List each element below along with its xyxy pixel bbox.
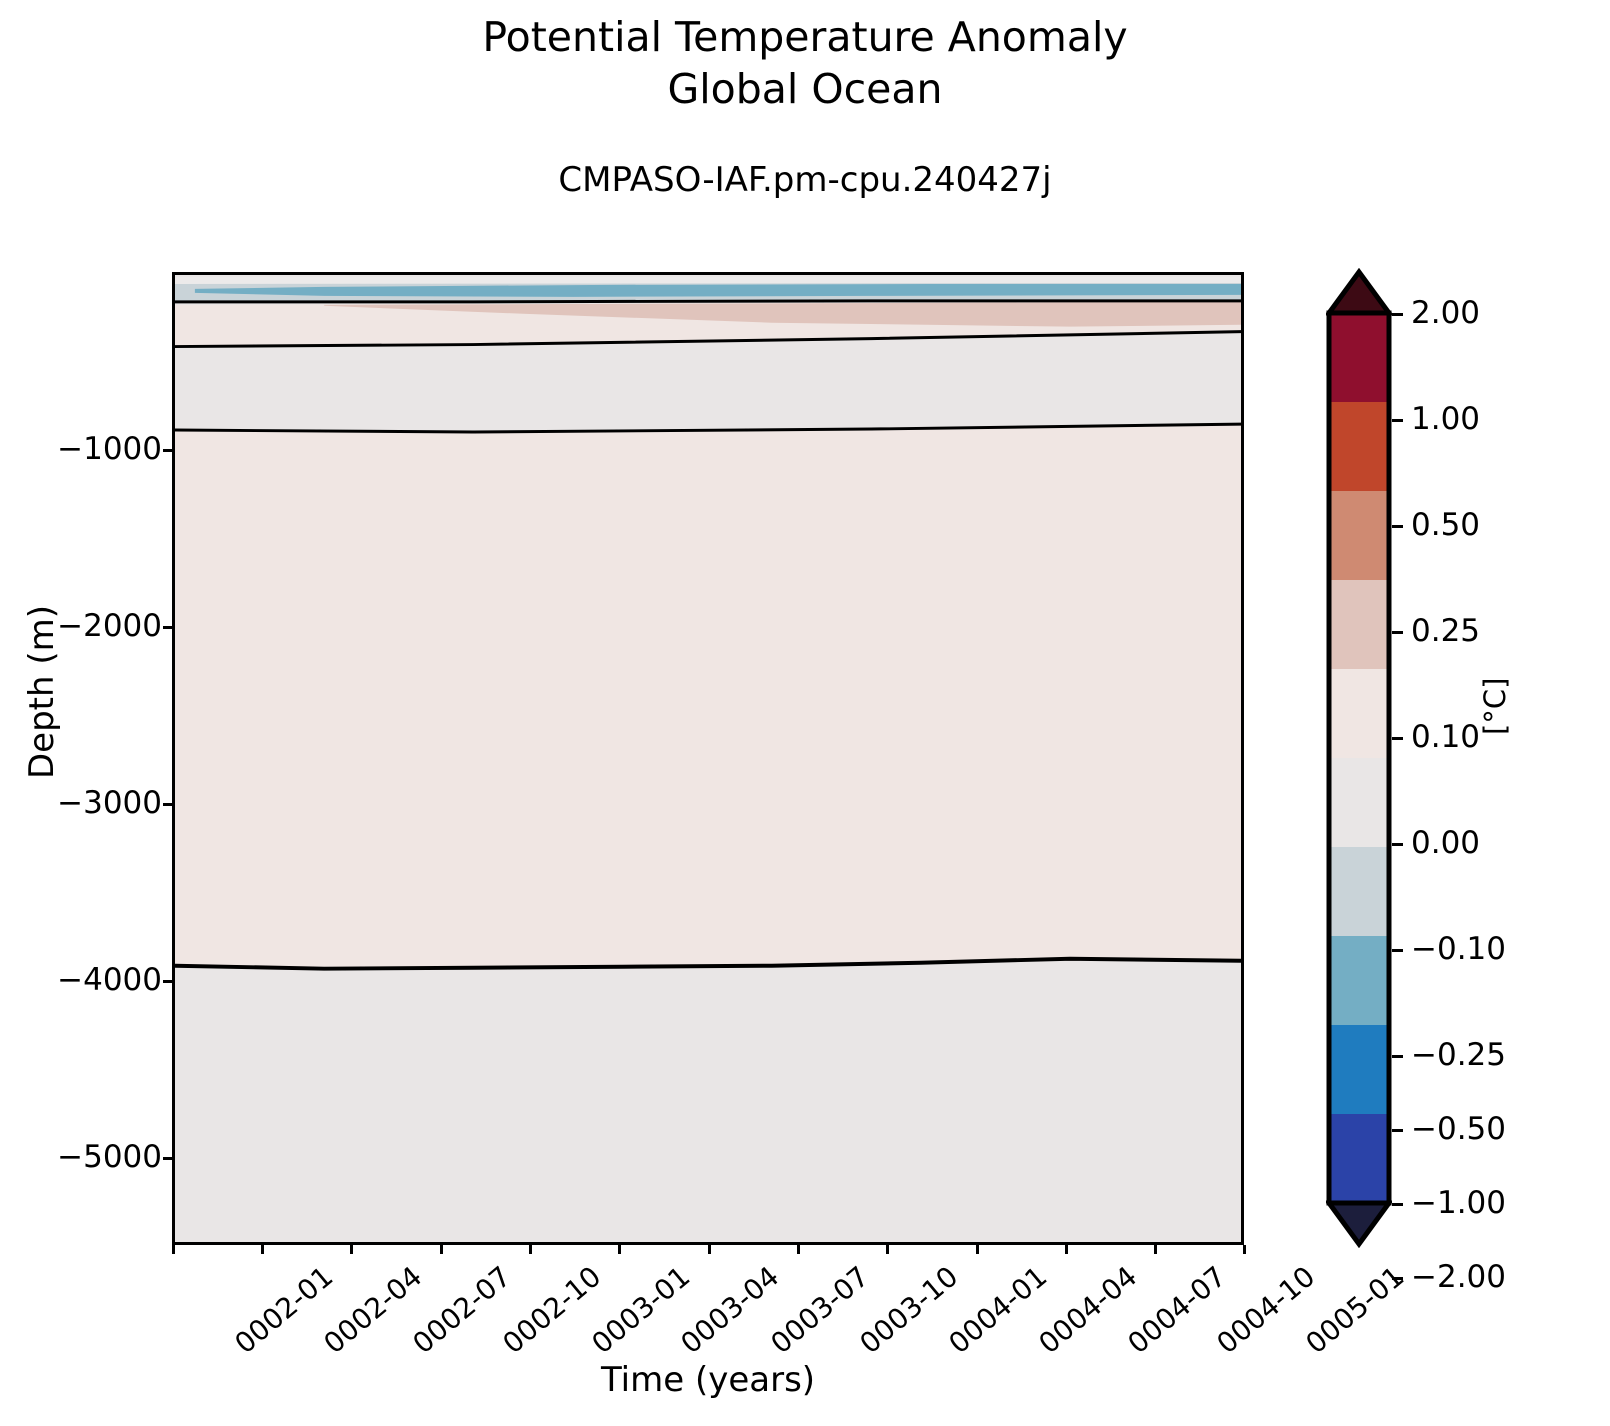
x-axis-label: Time (years) (172, 1360, 1244, 1400)
xtick-mark-3 (440, 1245, 443, 1254)
xtick-label-7: 0003-10 (855, 1262, 963, 1359)
cb-tick-label-1: 1.00 (1411, 404, 1480, 435)
xtick-mark-0 (172, 1245, 175, 1254)
xtick-mark-4 (529, 1245, 532, 1254)
cb-tick-mark-1 (1392, 419, 1403, 422)
cb-tick-label-2: 0.50 (1411, 510, 1480, 541)
ytick-mark-3000 (163, 803, 172, 806)
colorbar-band-6 (1329, 847, 1389, 937)
cb-tick-label-5: 0.00 (1411, 828, 1480, 859)
ytick-mark-2000 (163, 626, 172, 629)
ytick-mark-1000 (163, 449, 172, 452)
band-surface-sliver (175, 277, 1241, 284)
colorbar-band-0 (1329, 313, 1389, 403)
xtick-mark-10 (1065, 1245, 1068, 1254)
colorbar-under-arrow (1329, 1203, 1389, 1244)
cb-tick-label-3: 0.25 (1411, 616, 1480, 647)
xtick-label-1: 0002-04 (319, 1262, 427, 1359)
ytick-mark-5000 (163, 1157, 172, 1160)
xtick-mark-11 (1154, 1245, 1157, 1254)
cb-tick-mark-3 (1392, 631, 1403, 634)
colorbar-band-2 (1329, 491, 1389, 581)
cb-tick-label-6: −0.10 (1411, 934, 1506, 965)
xtick-label-10: 0004-07 (1123, 1262, 1231, 1359)
title-block: Potential Temperature Anomaly Global Oce… (0, 12, 1610, 115)
band-abyssal-negative (175, 959, 1241, 1242)
band-deep-positive (175, 424, 1241, 968)
xtick-label-4: 0003-01 (587, 1262, 695, 1359)
contour-fill-svg (175, 275, 1241, 1242)
ytick-label-4000: −4000 (57, 965, 162, 996)
xtick-label-3: 0002-10 (498, 1262, 606, 1359)
colorbar (1326, 268, 1392, 1248)
xtick-label-11: 0004-10 (1212, 1262, 1320, 1359)
band-intermediate-negative (175, 333, 1241, 432)
page-title: Potential Temperature Anomaly Global Oce… (0, 12, 1610, 115)
xtick-mark-5 (618, 1245, 621, 1254)
contour-plot-axes (172, 272, 1244, 1245)
xtick-label-9: 0004-04 (1034, 1262, 1142, 1359)
cb-tick-mark-4 (1392, 737, 1403, 740)
xtick-mark-7 (797, 1245, 800, 1254)
figure-subtitle: CMPASO-IAF.pm-cpu.240427j (0, 160, 1610, 200)
xtick-label-0: 0002-01 (230, 1262, 338, 1359)
colorbar-band-7 (1329, 936, 1389, 1026)
ytick-label-2000: −2000 (57, 611, 162, 642)
cb-tick-label-7: −0.25 (1411, 1040, 1506, 1071)
colorbar-band-3 (1329, 580, 1389, 670)
xtick-mark-2 (350, 1245, 353, 1254)
colorbar-unit-label: [°C] (1478, 678, 1512, 735)
cb-tick-mark-6 (1392, 949, 1403, 952)
y-axis-label: Depth (m) (22, 532, 62, 852)
cb-tick-label-8: −0.50 (1411, 1114, 1506, 1145)
xtick-mark-12 (1243, 1245, 1246, 1254)
colorbar-band-4 (1329, 669, 1389, 759)
cb-tick-mark-5 (1392, 843, 1403, 846)
cb-tick-label-4: 0.10 (1411, 722, 1480, 753)
colorbar-band-5 (1329, 758, 1389, 848)
cb-tick-mark-2 (1392, 525, 1403, 528)
xtick-label-6: 0003-07 (766, 1262, 874, 1359)
colorbar-over-arrow (1329, 272, 1389, 313)
cb-tick-mark-8 (1392, 1129, 1403, 1132)
cb-tick-mark-10 (1392, 1277, 1403, 1280)
cb-tick-label-10: −2.00 (1411, 1262, 1506, 1293)
xtick-mark-8 (886, 1245, 889, 1254)
ytick-label-3000: −3000 (57, 788, 162, 819)
colorbar-band-9 (1329, 1114, 1389, 1204)
xtick-mark-9 (976, 1245, 979, 1254)
xtick-label-5: 0003-04 (676, 1262, 784, 1359)
colorbar-svg (1326, 268, 1392, 1248)
cb-tick-mark-9 (1392, 1203, 1403, 1206)
xtick-label-8: 0004-01 (944, 1262, 1052, 1359)
colorbar-band-8 (1329, 1025, 1389, 1115)
colorbar-band-1 (1329, 402, 1389, 492)
xtick-mark-6 (708, 1245, 711, 1254)
ytick-label-5000: −5000 (57, 1142, 162, 1173)
xtick-mark-1 (261, 1245, 264, 1254)
cb-tick-label-0: 2.00 (1411, 298, 1480, 329)
cb-tick-label-9: −1.00 (1411, 1188, 1506, 1219)
cb-tick-mark-7 (1392, 1055, 1403, 1058)
ytick-mark-4000 (163, 980, 172, 983)
xtick-label-2: 0002-07 (408, 1262, 516, 1359)
contour-line-surface (175, 301, 1241, 302)
cb-tick-mark-0 (1392, 313, 1403, 316)
ytick-label-1000: −1000 (57, 434, 162, 465)
